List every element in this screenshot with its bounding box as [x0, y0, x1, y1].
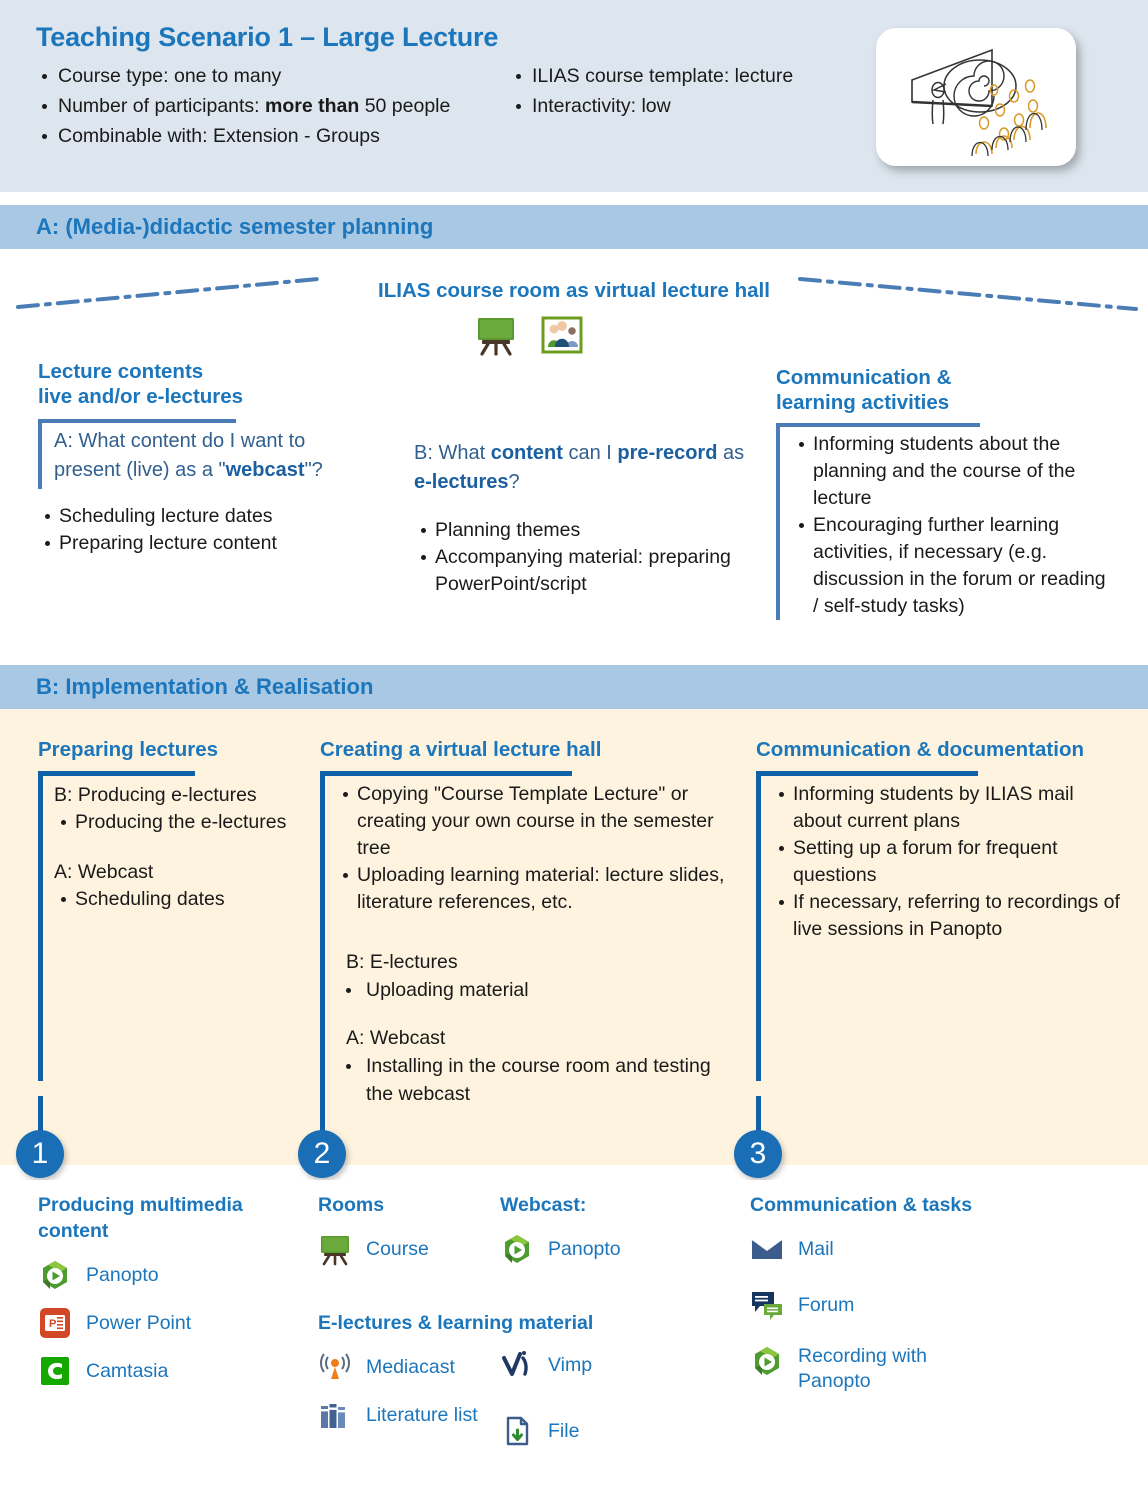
section-b-body: Preparing lectures B: Producing e-lectur… — [0, 709, 1148, 1165]
forum-icon — [750, 1288, 784, 1322]
group-members-icon — [540, 313, 584, 357]
q-bold: webcast — [226, 459, 305, 481]
bullet-list: Uploading material — [336, 976, 740, 1004]
file-download-icon — [500, 1414, 534, 1448]
section-b-label: B: Implementation & Realisation — [36, 674, 373, 700]
section-a-column-e-lectures: B: What content can I pre-record as e-le… — [414, 439, 759, 598]
tools-heading: E-lectures & learning material — [318, 1310, 518, 1336]
q-p4: ? — [509, 471, 520, 493]
section-b-column-preparing-lectures: Preparing lectures B: Producing e-lectur… — [38, 737, 300, 1081]
step-marker-2: 2 — [298, 1130, 346, 1178]
tool-label: Power Point — [86, 1311, 191, 1336]
group-label: B: E-lectures — [336, 948, 740, 976]
tool-item[interactable]: Vimp — [500, 1348, 700, 1382]
heading-line-1: Communication & — [776, 365, 1116, 390]
literature-list-icon — [318, 1398, 352, 1432]
bullet-list: Copying "Course Template Lecture" or cre… — [336, 781, 740, 916]
vimp-icon — [500, 1348, 534, 1382]
column-heading: Communication & learning activities — [776, 365, 1116, 415]
header-fact-item: Course type: one to many — [36, 62, 506, 91]
list-item: Encouraging further learning activities,… — [792, 512, 1116, 620]
group-label: A: Webcast — [54, 858, 300, 886]
page-title: Teaching Scenario 1 – Large Lecture — [36, 22, 498, 53]
list-item: Copying "Course Template Lecture" or cre… — [336, 781, 740, 862]
tool-label: Panopto — [86, 1263, 159, 1288]
header-fact-item: Combinable with: Extension - Groups — [36, 122, 506, 151]
q-b2: pre-record — [617, 442, 717, 464]
content-bracket: Informing students by ILIAS mail about c… — [756, 771, 1126, 1081]
bullet-list: Installing in the course room and testin… — [336, 1052, 740, 1108]
tools-column-electures: E-lectures & learning material Mediacast — [318, 1310, 518, 1432]
list-item: Accompanying material: preparing PowerPo… — [414, 544, 759, 598]
question-bracket: A: What content do I want to present (li… — [38, 419, 368, 489]
section-b-column-virtual-lecture-hall: Creating a virtual lecture hall Copying … — [320, 737, 740, 1108]
column-heading: Creating a virtual lecture hall — [320, 737, 740, 763]
tool-label: Panopto — [548, 1237, 621, 1262]
header-fact-item: ILIAS course template: lecture — [510, 62, 870, 91]
list-item: Installing in the course room and testin… — [336, 1052, 740, 1108]
column-heading: Preparing lectures — [38, 737, 300, 763]
question-text: B: What content can I pre-record as e-le… — [414, 439, 759, 497]
tools-section: Producing multimedia content Panopto P — [0, 1180, 1148, 1498]
fact-pre: Number of participants: — [58, 95, 265, 117]
bullet-list: Informing students about the planning an… — [792, 431, 1116, 620]
course-board-icon — [474, 313, 518, 357]
group-label: B: Producing e-lectures — [54, 781, 300, 809]
tool-item[interactable]: Mail — [750, 1232, 1080, 1266]
list-item: If necessary, referring to recordings of… — [772, 889, 1126, 943]
q-b3: e-lectures — [414, 471, 509, 493]
camtasia-icon — [38, 1354, 72, 1388]
tools-heading: Rooms — [318, 1192, 498, 1218]
lecture-hall-illustration — [876, 28, 1076, 166]
bullet-list: Informing students by ILIAS mail about c… — [772, 781, 1126, 943]
panopto-icon — [38, 1258, 72, 1292]
header-fact-item: Interactivity: low — [510, 92, 870, 121]
tools-heading: Webcast: — [500, 1192, 700, 1218]
q-post: "? — [305, 459, 323, 481]
section-a-column-communication: Communication & learning activities Info… — [776, 365, 1116, 620]
panopto-icon — [500, 1232, 534, 1266]
list-item: Informing students by ILIAS mail about c… — [772, 781, 1126, 835]
q-p1: B: What — [414, 442, 491, 464]
section-a-body: ILIAS course room as virtual lecture hal… — [0, 249, 1148, 649]
tool-label: Camtasia — [86, 1359, 168, 1384]
tool-item[interactable]: Literature list — [318, 1398, 518, 1432]
tool-label: Mail — [798, 1237, 834, 1262]
bullet-list: Planning themes Accompanying material: p… — [414, 517, 759, 598]
q-b1: content — [491, 442, 563, 464]
tools-column-rooms: Rooms Course — [318, 1192, 498, 1266]
tools-column-electures-right: Vimp File — [500, 1348, 700, 1448]
tool-item[interactable]: Recording with Panopto — [750, 1344, 1080, 1394]
list-item: Producing the e-lectures — [54, 809, 300, 836]
tool-label: Literature list — [366, 1403, 478, 1428]
tools-column-multimedia: Producing multimedia content Panopto P — [38, 1192, 288, 1388]
list-item: Scheduling lecture dates — [38, 503, 368, 530]
tool-item[interactable]: Camtasia — [38, 1354, 288, 1388]
group-label: A: Webcast — [336, 1024, 740, 1052]
content-bracket: Informing students about the planning an… — [776, 423, 1116, 620]
column-heading: Communication & documentation — [756, 737, 1126, 763]
bullet-list: Producing the e-lectures — [54, 809, 300, 836]
tool-item[interactable]: Mediacast — [318, 1350, 518, 1384]
tool-item[interactable]: P Power Point — [38, 1306, 288, 1340]
step-marker-1: 1 — [16, 1130, 64, 1178]
tool-label: Mediacast — [366, 1355, 455, 1380]
tools-column-webcast: Webcast: Panopto — [500, 1192, 700, 1266]
tool-label: Recording with Panopto — [798, 1344, 998, 1394]
infographic-page: Teaching Scenario 1 – Large Lecture Cour… — [0, 0, 1148, 1498]
content-bracket: Copying "Course Template Lecture" or cre… — [320, 771, 740, 1108]
mail-icon — [750, 1232, 784, 1266]
header-banner: Teaching Scenario 1 – Large Lecture Cour… — [0, 0, 1148, 192]
header-facts-right: ILIAS course template: lecture Interacti… — [510, 62, 870, 122]
section-a-band: A: (Media-)didactic semester planning — [0, 205, 1148, 249]
section-b-band: B: Implementation & Realisation — [0, 665, 1148, 709]
fact-bold: more than — [265, 95, 359, 117]
tools-column-communication: Communication & tasks Mail — [750, 1192, 1080, 1394]
heading-line-1: Lecture contents — [38, 359, 368, 384]
list-item: Planning themes — [414, 517, 759, 544]
bullet-list: Scheduling dates — [54, 886, 300, 913]
list-item: Scheduling dates — [54, 886, 300, 913]
step-marker-3: 3 — [734, 1130, 782, 1178]
section-b-column-communication-documentation: Communication & documentation Informing … — [756, 737, 1126, 1081]
powerpoint-icon: P — [38, 1306, 72, 1340]
heading-line-2: live and/or e-lectures — [38, 384, 368, 409]
content-bracket: B: Producing e-lectures Producing the e-… — [38, 771, 300, 1081]
list-item: Uploading learning material: lecture sli… — [336, 862, 740, 916]
tools-heading: Communication & tasks — [750, 1192, 1080, 1218]
tool-label: Vimp — [548, 1353, 592, 1378]
header-facts-left: Course type: one to many Number of parti… — [36, 62, 506, 152]
ilias-course-room-icons — [474, 309, 674, 361]
tool-item[interactable]: Panopto — [500, 1232, 700, 1266]
column-heading: Lecture contents live and/or e-lectures — [38, 359, 368, 409]
bullet-list: Scheduling lecture dates Preparing lectu… — [38, 503, 368, 557]
header-fact-item: Number of participants: more than 50 peo… — [36, 92, 506, 121]
section-a-label: A: (Media-)didactic semester planning — [36, 214, 433, 240]
list-item: Uploading material — [336, 976, 740, 1004]
ilias-course-room-title: ILIAS course room as virtual lecture hal… — [0, 279, 1148, 303]
tool-item[interactable]: File — [500, 1414, 700, 1448]
tool-label: Course — [366, 1237, 429, 1262]
panopto-icon — [750, 1344, 784, 1378]
q-p2: can I — [563, 442, 617, 464]
tools-heading: Producing multimedia content — [38, 1192, 288, 1244]
list-item: Informing students about the planning an… — [792, 431, 1116, 512]
list-item: Setting up a forum for frequent question… — [772, 835, 1126, 889]
tool-item[interactable]: Forum — [750, 1288, 1080, 1322]
list-item: Preparing lecture content — [38, 530, 368, 557]
q-p3: as — [717, 442, 744, 464]
mediacast-icon — [318, 1350, 352, 1384]
heading-line-2: learning activities — [776, 390, 1116, 415]
svg-text:P: P — [49, 1318, 56, 1330]
question-text: A: What content do I want to present (li… — [54, 427, 368, 485]
tool-label: Forum — [798, 1293, 854, 1318]
course-board-icon — [318, 1232, 352, 1266]
tool-label: File — [548, 1419, 579, 1444]
tool-item[interactable]: Panopto — [38, 1258, 288, 1292]
section-a-column-lecture-contents: Lecture contents live and/or e-lectures … — [38, 359, 368, 557]
tool-item[interactable]: Course — [318, 1232, 498, 1266]
fact-post: 50 people — [359, 95, 450, 117]
